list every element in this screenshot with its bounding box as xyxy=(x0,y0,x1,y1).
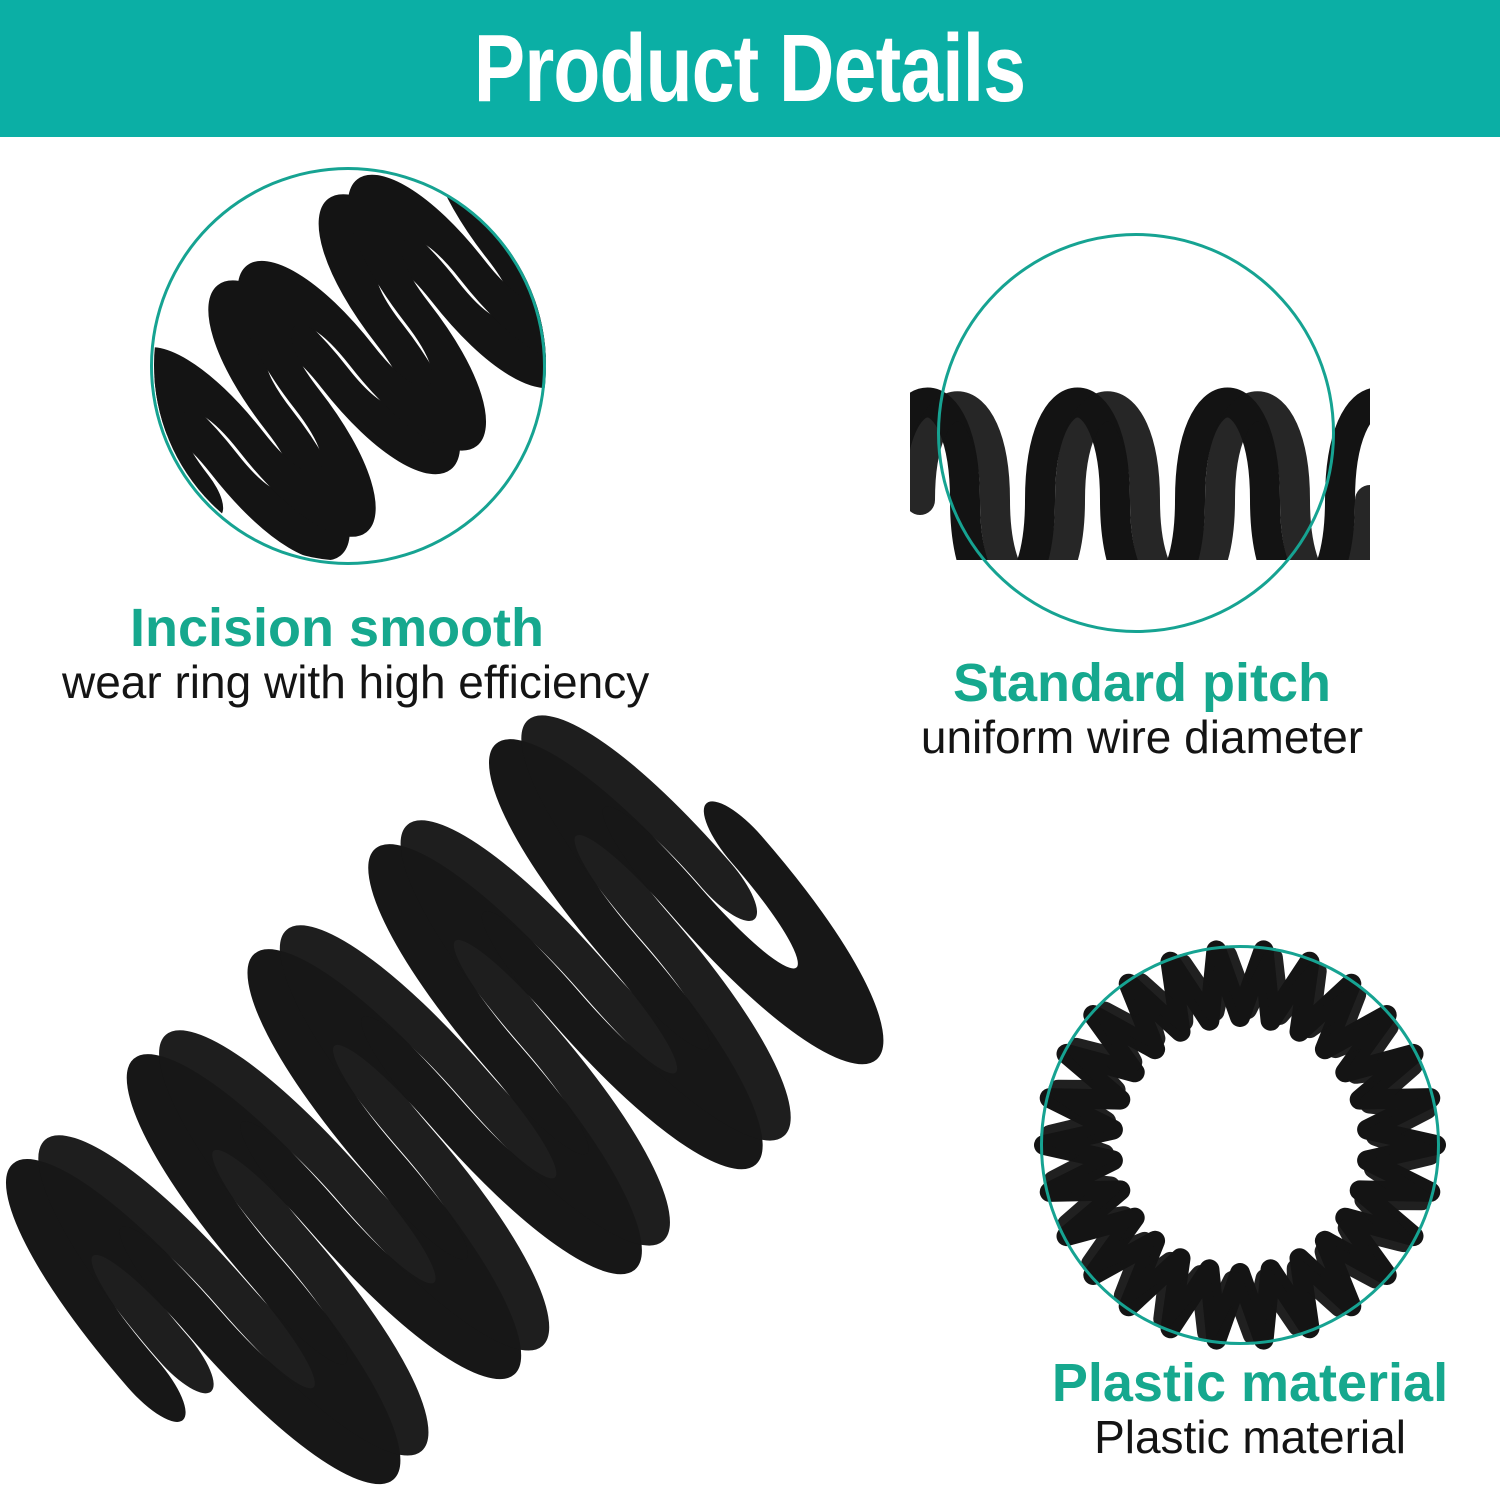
spring-end-on-ring-view xyxy=(1025,930,1455,1360)
callout-text-incision: Incision smooth wear ring with high effi… xyxy=(130,600,649,708)
callout-subtext-incision: wear ring with high efficiency xyxy=(62,657,649,708)
callout-circle-pitch xyxy=(937,233,1335,633)
callout-text-plastic: Plastic material Plastic material xyxy=(1035,1355,1465,1463)
callout-circle-plastic xyxy=(1040,945,1440,1345)
page-title: Product Details xyxy=(474,21,1025,117)
product-details-infographic: Product Details xyxy=(0,0,1500,1500)
callout-heading-pitch: Standard pitch xyxy=(917,655,1367,712)
callout-heading-plastic: Plastic material xyxy=(1035,1355,1465,1412)
callout-subtext-plastic: Plastic material xyxy=(1035,1412,1465,1463)
spring-diagonal-coil-closeup xyxy=(150,150,570,580)
spring-zigzag-side-profile xyxy=(910,330,1370,560)
callout-heading-incision: Incision smooth xyxy=(130,600,649,657)
callout-circle-incision xyxy=(150,167,546,565)
spring-main-diagonal-coil xyxy=(0,700,900,1500)
callout-subtext-pitch: uniform wire diameter xyxy=(917,712,1367,763)
header-banner: Product Details xyxy=(0,0,1500,137)
callout-text-pitch: Standard pitch uniform wire diameter xyxy=(917,655,1367,763)
